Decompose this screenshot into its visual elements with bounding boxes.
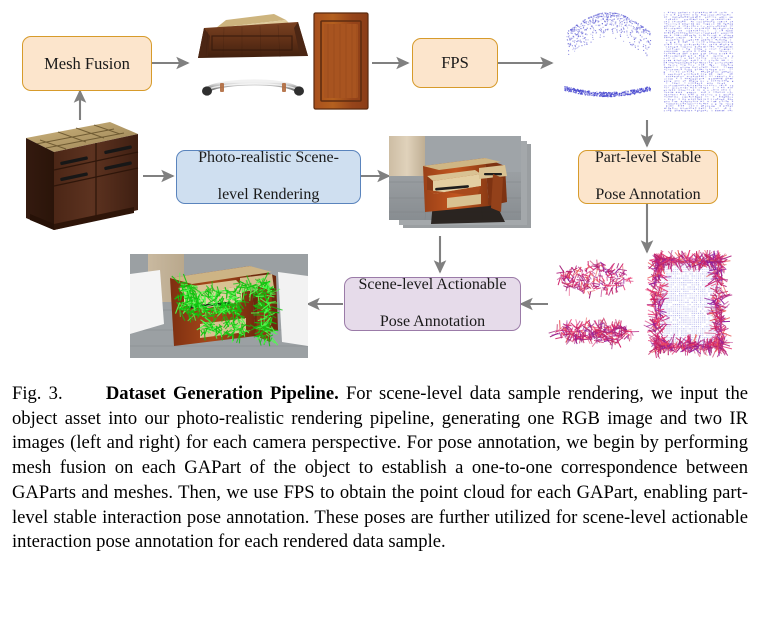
- node-photo-realistic-rendering-label: Photo-realistic Scene- level Rendering: [183, 149, 354, 206]
- caption-body: For scene-level data sample rendering, w…: [12, 383, 748, 552]
- rendered-scene-drawing: [389, 136, 539, 236]
- panel-scene-pose-result: [130, 254, 308, 358]
- pose-vector-drawing: [548, 250, 748, 360]
- node-scene-pose-line2: Pose Annotation: [351, 313, 514, 332]
- node-scene-level-actionable-pose-label: Scene-level Actionable Pose Annotation: [351, 276, 514, 333]
- node-mesh-fusion[interactable]: Mesh Fusion: [22, 36, 152, 91]
- node-photo-realistic-rendering[interactable]: Photo-realistic Scene- level Rendering: [176, 150, 361, 204]
- panel-part-pose-vectors: [548, 250, 748, 360]
- node-mesh-fusion-label: Mesh Fusion: [29, 54, 145, 73]
- panel-gapart-pointclouds: [552, 6, 748, 118]
- node-part-pose-line2: Pose Annotation: [585, 186, 711, 205]
- gapart-meshes-drawing: [190, 8, 372, 118]
- scene-pose-result-drawing: [130, 254, 308, 358]
- node-rendering-line1: Photo-realistic Scene-: [183, 149, 354, 168]
- point-cloud-drawing: [552, 6, 748, 118]
- node-part-level-stable-pose-label: Part-level Stable Pose Annotation: [585, 149, 711, 206]
- pipeline-diagram: Mesh Fusion FPS Photo-realistic Scene- l…: [0, 0, 760, 372]
- caption-figure-number: Fig. 3.: [12, 383, 63, 404]
- node-fps-label: FPS: [419, 53, 491, 72]
- node-part-pose-line1: Part-level Stable: [585, 149, 711, 168]
- panel-rendered-scene-stack: [389, 136, 539, 236]
- node-scene-level-actionable-pose[interactable]: Scene-level Actionable Pose Annotation: [344, 277, 521, 331]
- figure-page: Mesh Fusion FPS Photo-realistic Scene- l…: [0, 0, 760, 633]
- node-fps[interactable]: FPS: [412, 38, 498, 88]
- source-cabinet-drawing: [14, 118, 144, 236]
- panel-source-object: [14, 118, 144, 236]
- node-rendering-line2: level Rendering: [183, 186, 354, 205]
- panel-gapart-meshes: [190, 8, 372, 118]
- node-part-level-stable-pose[interactable]: Part-level Stable Pose Annotation: [578, 150, 718, 204]
- node-scene-pose-line1: Scene-level Actionable: [351, 276, 514, 295]
- figure-caption: Fig. 3. Dataset Generation Pipeline. For…: [12, 382, 748, 555]
- caption-title: Dataset Generation Pipeline.: [106, 383, 339, 404]
